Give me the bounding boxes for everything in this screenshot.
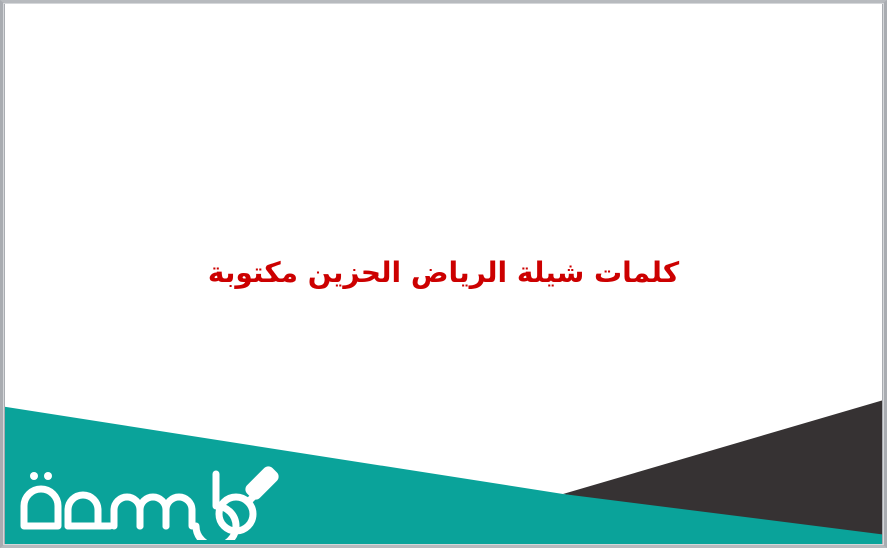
logo-wordmark-strokes [24, 474, 259, 540]
brand-logo [10, 454, 290, 540]
magnifying-glass-icon [243, 464, 281, 502]
brand-logo-mark [10, 454, 290, 540]
logo-diacritic-dots [30, 472, 52, 480]
page-title: كلمات شيلة الرياض الحزين مكتوبة [0, 253, 887, 293]
slide-canvas: كلمات شيلة الرياض الحزين مكتوبة [0, 0, 887, 548]
